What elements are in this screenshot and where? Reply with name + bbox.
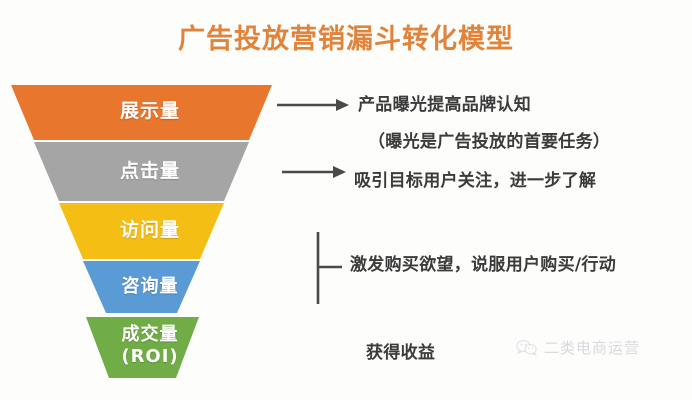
- annotation-impressions: 产品曝光提高品牌认知: [358, 90, 531, 115]
- wechat-icon: [516, 339, 538, 357]
- watermark-text: 二类电商运营: [544, 337, 640, 358]
- arrow-to-annotation-2: [282, 166, 346, 178]
- annotation-impressions-note: （曝光是广告投放的首要任务）: [368, 127, 610, 152]
- watermark: 二类电商运营: [516, 337, 640, 358]
- annotation-clicks: 吸引目标用户关注，进一步了解: [354, 166, 596, 191]
- annotation-transactions: 获得收益: [366, 338, 435, 363]
- bracket-to-annotation-3: [318, 232, 342, 304]
- arrow-to-annotation-1: [277, 99, 349, 111]
- annotation-visits-inquiries: 激发购买欲望，说服用户购买/行动: [350, 250, 616, 275]
- funnel-infographic: 广告投放营销漏斗转化模型 展示量 点击量 访问量 咨询量 成交量 (ROI): [0, 0, 692, 400]
